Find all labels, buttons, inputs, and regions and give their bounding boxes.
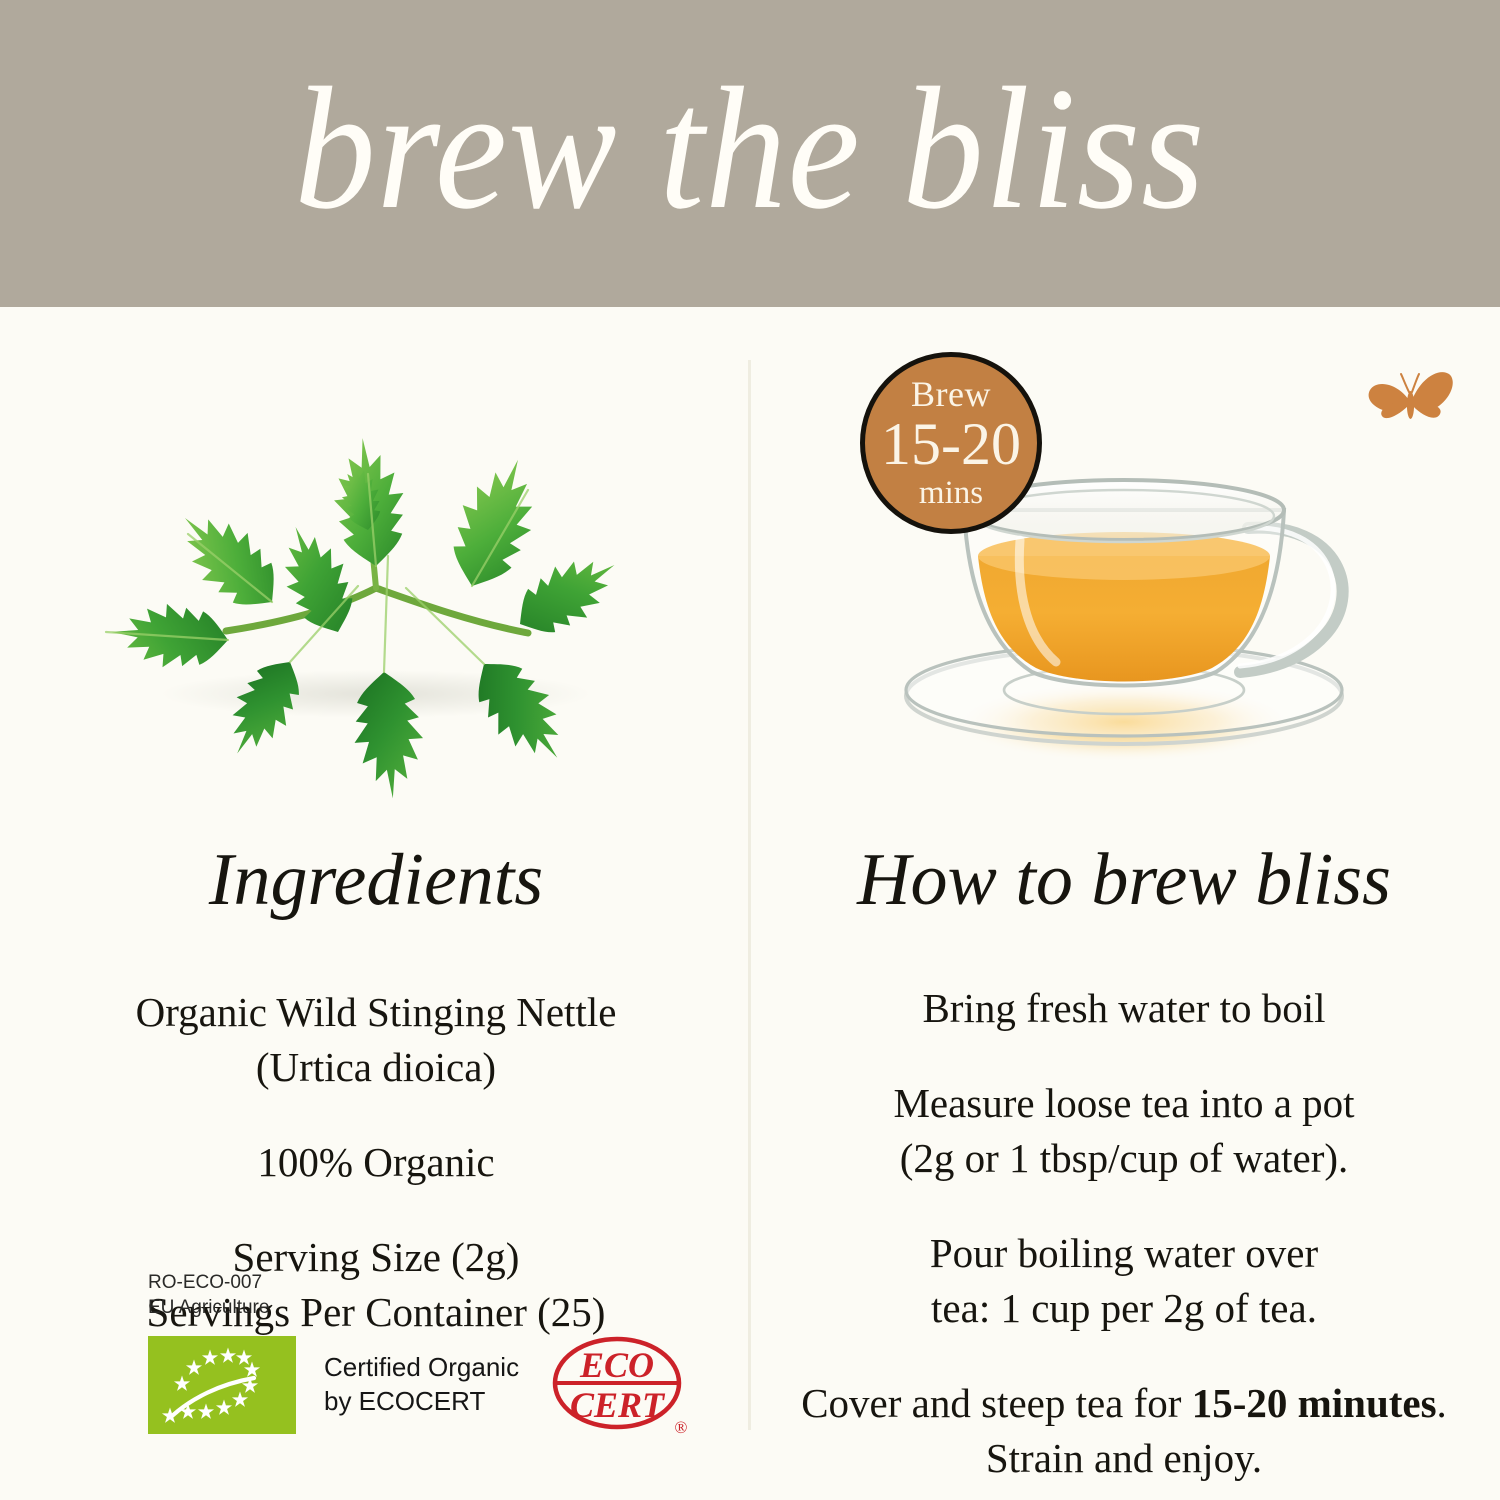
brewing-instructions-column: Brew 15-20 mins [764,330,1484,1500]
ecocert-caption-line-1: Certified Organic [324,1351,519,1385]
eu-organic-leaf-icon [148,1336,296,1434]
butterfly-icon [1362,364,1458,448]
ecocert-word-bottom: CERT [570,1385,666,1425]
badge-mins-label: mins [919,476,983,511]
column-divider [748,360,751,1430]
ecocert-caption: Certified Organic by ECOCERT [324,1351,519,1419]
ingredients-heading: Ingredients [16,770,736,921]
cert-logos-row: Certified Organic by ECOCERT ECO CERT ® [148,1329,708,1441]
ecocert-oval-icon: ECO CERT ® [547,1329,693,1441]
brew-step: Bring fresh water to boil [764,981,1484,1036]
ecocert-word-top: ECO [579,1345,654,1385]
ingredients-column: Ingredients Organic Wild Stinging Nettle… [16,330,736,1500]
brew-steps-list: Bring fresh water to boil Measure loose … [764,981,1484,1486]
badge-brew-label: Brew [911,376,991,413]
cert-code: RO-ECO-007 [148,1270,708,1295]
product-info-panel: brew the bliss [0,0,1500,1500]
teacup-hero: Brew 15-20 mins [764,330,1484,770]
brew-step: Pour boiling water over tea: 1 cup per 2… [764,1226,1484,1336]
brew-step-emphasis: 15-20 minutes [1192,1380,1437,1426]
badge-time-value: 15-20 [881,414,1021,474]
brew-time-badge: Brew 15-20 mins [860,352,1042,534]
registered-mark-icon: ® [675,1418,688,1437]
certification-row: RO-ECO-007 EU Agriculture [148,1270,708,1441]
brew-step: Measure loose tea into a pot (2g or 1 tb… [764,1076,1484,1186]
brew-step: Cover and steep tea for 15-20 minutes. S… [764,1376,1484,1486]
ingredient-line: Organic Wild Stinging Nettle (Urtica dio… [16,985,736,1095]
ingredient-line: 100% Organic [16,1135,736,1190]
cert-authority: EU Agriculture [148,1295,708,1320]
brew-step-prefix: Cover and steep tea for [801,1380,1191,1426]
header-band: brew the bliss [0,0,1500,307]
cert-code-block: RO-ECO-007 EU Agriculture [148,1270,708,1321]
page-title: brew the bliss [294,61,1205,236]
nettle-hero [16,330,736,770]
brew-heading: How to brew bliss [764,770,1484,921]
ecocert-caption-line-2: by ECOCERT [324,1385,519,1419]
stinging-nettle-leaves-image [76,426,676,726]
